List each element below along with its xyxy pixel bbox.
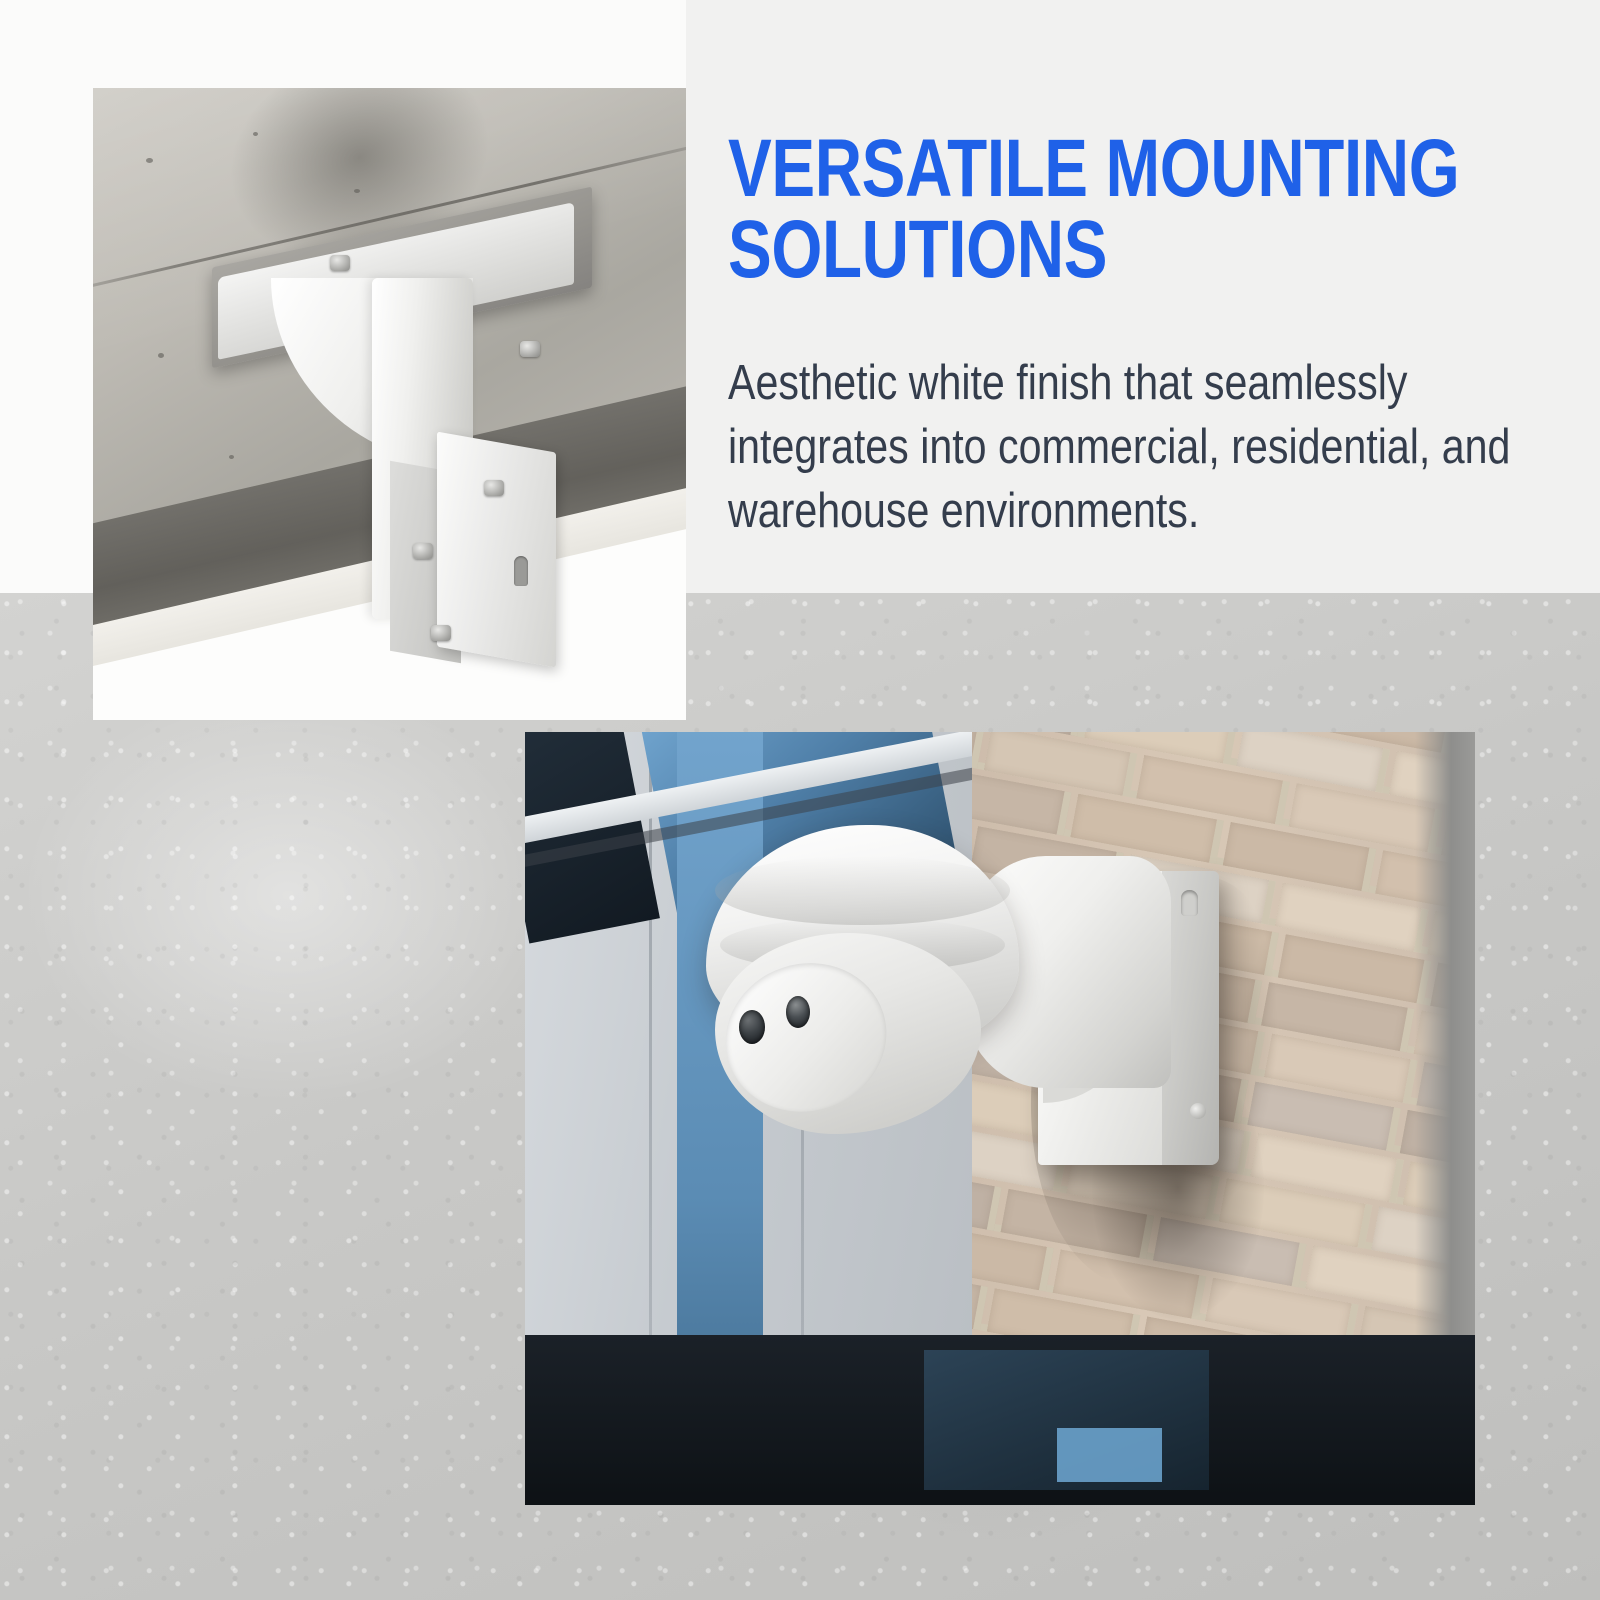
bolt-icon (520, 341, 540, 357)
bolt-icon (413, 543, 433, 559)
bolt-icon (330, 255, 350, 271)
brick (972, 732, 986, 769)
bolt-icon (1190, 1103, 1206, 1119)
subcopy: Aesthetic white finish that seamlessly i… (728, 352, 1526, 543)
lower-window-glare (1057, 1428, 1162, 1482)
wall-mount-photo (525, 732, 1475, 1505)
concrete-speck (146, 158, 153, 163)
bolt-icon (484, 480, 504, 496)
ceiling-mount-photo (93, 88, 686, 720)
keyhole-slot-icon (1181, 890, 1198, 916)
dome-camera-ring (715, 856, 1010, 926)
bolt-icon (431, 625, 451, 641)
keyhole-slot-icon (514, 556, 528, 586)
concrete-speck (229, 455, 234, 459)
text-block: VERSATILE MOUNTING SOLUTIONS Aesthetic w… (728, 128, 1528, 543)
bracket-wall-plate (437, 431, 556, 667)
marketing-banner: VERSATILE MOUNTING SOLUTIONS Aesthetic w… (0, 0, 1600, 1600)
page-title: VERSATILE MOUNTING SOLUTIONS (728, 128, 1528, 290)
camera-lens-icon (739, 1010, 765, 1044)
